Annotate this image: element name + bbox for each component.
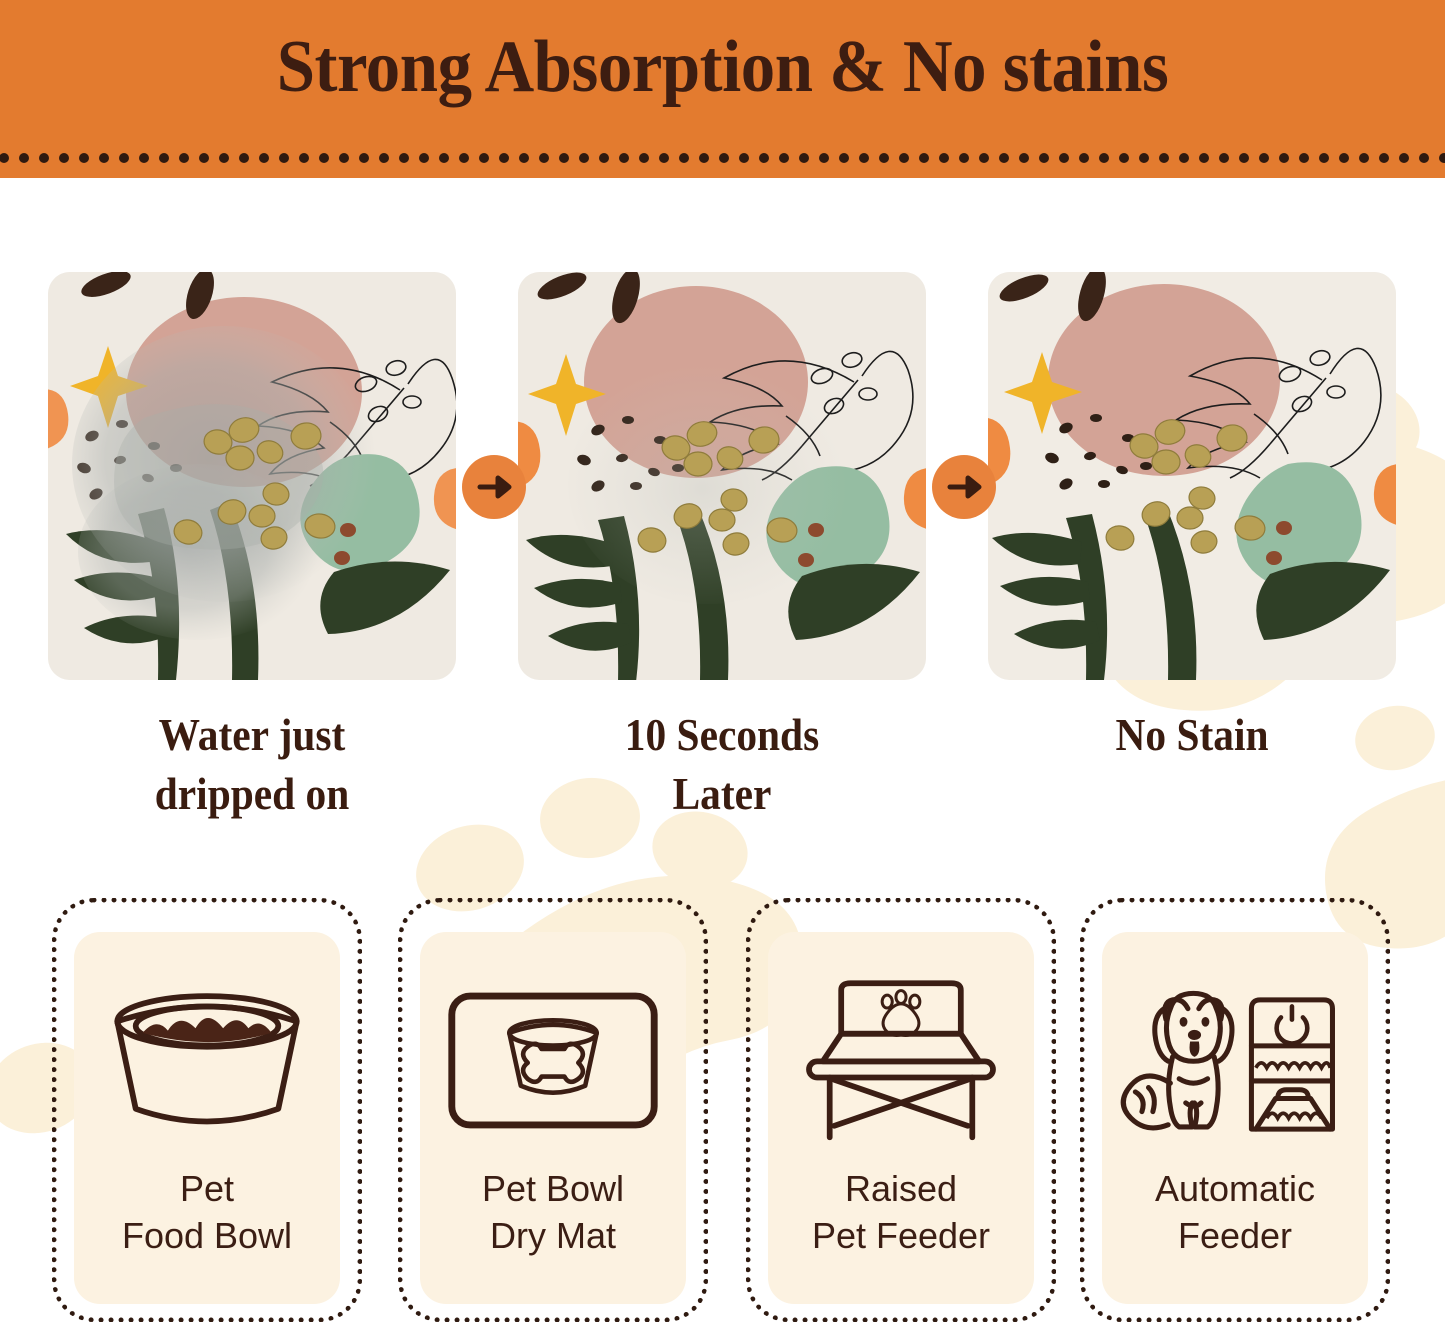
feature-card-pet-food-bowl: Pet Food Bowl — [52, 898, 362, 1322]
caption-dry: No Stain — [1008, 706, 1375, 765]
card-label: Pet Food Bowl — [77, 1166, 337, 1260]
arrow-right-icon — [462, 455, 526, 519]
card-label: Pet Bowl Dry Mat — [423, 1166, 683, 1260]
feature-card-automatic-feeder: Automatic Feeder — [1080, 898, 1390, 1322]
page-title: Strong Absorption & No stains — [51, 30, 1395, 104]
arrow-right-icon — [932, 455, 996, 519]
infographic-page: Strong Absorption & No stains — [0, 0, 1445, 1342]
card-panel: Pet Bowl Dry Mat — [420, 932, 686, 1304]
pet-bowl-dry-mat-icon — [438, 960, 668, 1160]
comparison-photo-drying — [518, 272, 926, 680]
header-dotted-divider — [0, 152, 1445, 164]
automatic-feeder-icon — [1120, 960, 1350, 1160]
card-label: Automatic Feeder — [1105, 1166, 1365, 1260]
pet-food-bowl-icon — [92, 960, 322, 1160]
card-label: Raised Pet Feeder — [771, 1166, 1031, 1260]
raised-pet-feeder-icon — [786, 960, 1016, 1160]
caption-wet: Water just dripped on — [68, 706, 435, 824]
comparison-photo-dry — [988, 272, 1396, 680]
card-panel: Automatic Feeder — [1102, 932, 1368, 1304]
comparison-photo-wet — [48, 272, 456, 680]
feature-card-pet-bowl-dry-mat: Pet Bowl Dry Mat — [398, 898, 708, 1322]
feature-card-raised-pet-feeder: Raised Pet Feeder — [746, 898, 1056, 1322]
caption-drying: 10 Seconds Later — [538, 706, 905, 824]
card-panel: Raised Pet Feeder — [768, 932, 1034, 1304]
card-panel: Pet Food Bowl — [74, 932, 340, 1304]
header-band: Strong Absorption & No stains — [0, 0, 1445, 178]
